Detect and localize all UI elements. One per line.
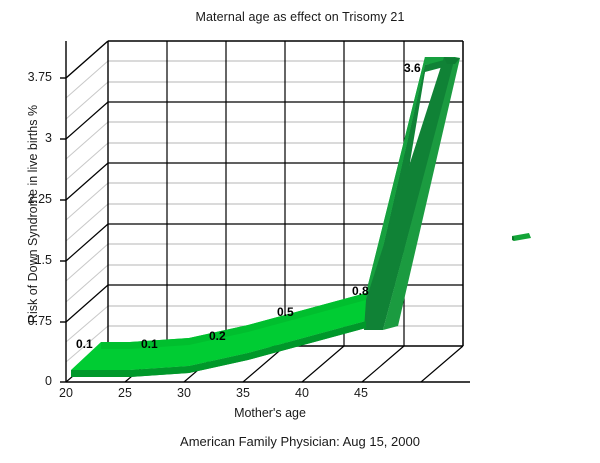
data-label-0: 0.1	[76, 337, 93, 351]
chart-footer: American Family Physician: Aug 15, 2000	[0, 434, 600, 449]
y-tick-label-5: 3.75	[8, 70, 52, 84]
x-tick-label-1: 25	[105, 386, 145, 400]
x-tick-label-2: 30	[164, 386, 204, 400]
y-tick-label-1: 0.75	[8, 314, 52, 328]
data-label-1: 0.1	[141, 337, 158, 351]
data-label-4: 0.8	[352, 284, 369, 298]
data-label-2: 0.2	[209, 329, 226, 343]
y-tick-label-2: 1.5	[8, 253, 52, 267]
x-tick-label-5: 45	[341, 386, 381, 400]
left-side-wall	[66, 41, 108, 382]
data-label-5: 3.6	[404, 61, 421, 75]
y-tick-label-3: 2.25	[8, 192, 52, 206]
x-tick-label-4: 40	[282, 386, 322, 400]
y-tick-label-4: 3	[8, 131, 52, 145]
x-tick-label-3: 35	[223, 386, 263, 400]
legend-swatch[interactable]	[512, 233, 531, 241]
x-tick-label-0: 20	[46, 386, 86, 400]
data-label-3: 0.5	[277, 305, 294, 319]
chart-root: Maternal age as effect on Trisomy 21 Ris…	[0, 0, 600, 463]
